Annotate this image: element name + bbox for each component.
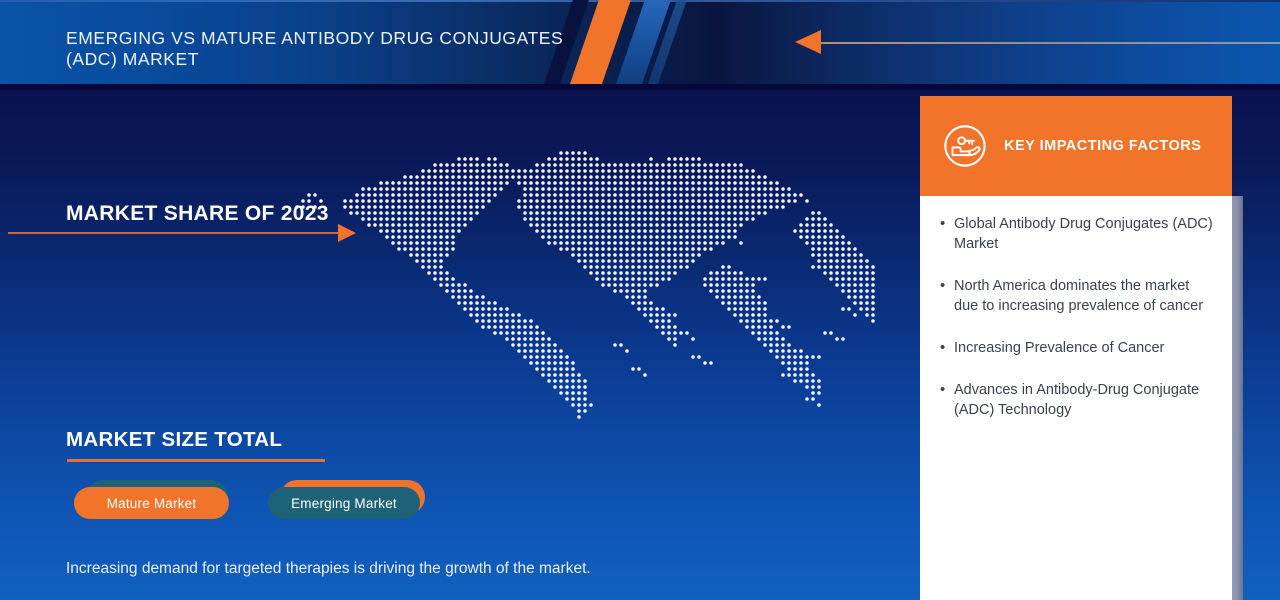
key-factors-title: KEY IMPACTING FACTORS <box>1004 138 1201 154</box>
list-item: •Increasing Prevalence of Cancer <box>938 338 1214 358</box>
list-item-label: Increasing Prevalence of Cancer <box>954 338 1164 358</box>
bullet-icon: • <box>938 380 954 400</box>
page-title: EMERGING VS MATURE ANTIBODY DRUG CONJUGA… <box>66 28 586 70</box>
header-bar: EMERGING VS MATURE ANTIBODY DRUG CONJUGA… <box>0 0 1280 90</box>
key-factors-panel: KEY IMPACTING FACTORS •Global Antibody D… <box>920 96 1232 600</box>
key-factors-list: •Global Antibody Drug Conjugates (ADC) M… <box>920 196 1232 442</box>
list-item-label: North America dominates the market due t… <box>954 276 1214 316</box>
dotted-world-map <box>282 150 894 490</box>
header-top-divider <box>0 0 1280 2</box>
list-item: •Advances in Antibody-Drug Conjugate (AD… <box>938 380 1214 420</box>
bullet-icon: • <box>938 214 954 234</box>
legend-pill-emerging-market[interactable]: Emerging Market <box>268 487 420 519</box>
main-paragraph: Increasing demand for targeted therapies… <box>66 558 614 579</box>
list-item: •North America dominates the market due … <box>938 276 1214 316</box>
list-item: •Global Antibody Drug Conjugates (ADC) M… <box>938 214 1214 254</box>
market-size-heading: MARKET SIZE TOTAL <box>66 428 282 452</box>
infographic-root: EMERGING VS MATURE ANTIBODY DRUG CONJUGA… <box>0 0 1280 600</box>
hand-holding-key-icon <box>942 123 988 169</box>
bullet-icon: • <box>938 338 954 358</box>
legend-pill-mature-market-label: Mature Market <box>107 496 197 511</box>
bullet-icon: • <box>938 276 954 296</box>
key-factors-header: KEY IMPACTING FACTORS <box>920 96 1232 196</box>
list-item-label: Advances in Antibody-Drug Conjugate (ADC… <box>954 380 1214 420</box>
market-size-underline <box>67 459 325 462</box>
legend-pill-mature-market[interactable]: Mature Market <box>74 487 229 519</box>
arrow-left-icon <box>795 30 821 54</box>
header-arrow-line <box>820 42 1280 44</box>
list-item-label: Global Antibody Drug Conjugates (ADC) Ma… <box>954 214 1214 254</box>
legend-pill-emerging-market-label: Emerging Market <box>291 496 397 511</box>
key-factors-panel-shadow <box>1232 196 1243 600</box>
